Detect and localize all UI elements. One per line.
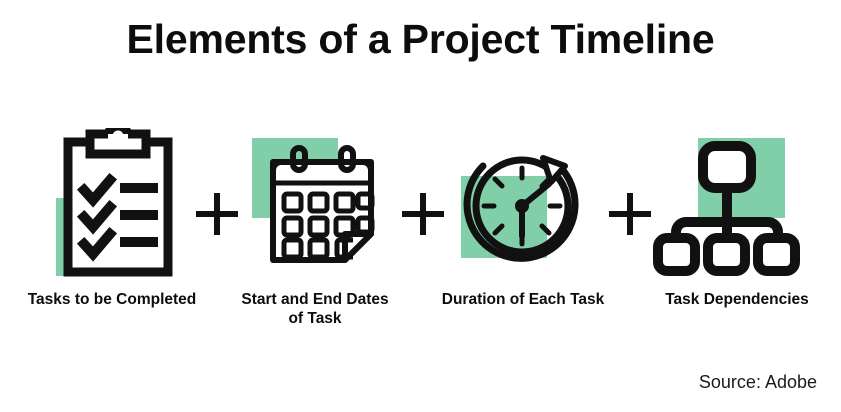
label-line: Start and End Dates: [205, 290, 425, 309]
label-line: Duration of Each Task: [413, 290, 633, 309]
label-tasks-to-be-completed: Tasks to be Completed: [2, 290, 222, 309]
source-attribution: Source: Adobe: [699, 372, 817, 393]
page-title: Elements of a Project Timeline: [0, 16, 841, 63]
element-duration-of-each-task: [443, 128, 613, 288]
hierarchy-icon: [650, 128, 820, 288]
clipboard-checklist-icon: [28, 128, 198, 288]
label-line: of Task: [205, 309, 425, 328]
label-duration-of-each-task: Duration of Each Task: [413, 290, 633, 309]
label-task-dependencies: Task Dependencies: [627, 290, 841, 309]
infographic-canvas: Elements of a Project Timeline: [0, 0, 841, 412]
labels-row: Tasks to be Completed Start and End Date…: [0, 290, 841, 338]
plus-separator-1: [196, 193, 238, 235]
clock-arrow-icon: [443, 128, 613, 288]
element-task-dependencies: [650, 128, 820, 288]
element-start-and-end-dates: [237, 128, 407, 288]
plus-separator-3: [609, 193, 651, 235]
label-start-and-end-dates: Start and End Dates of Task: [205, 290, 425, 328]
plus-separator-2: [402, 193, 444, 235]
label-line: Tasks to be Completed: [2, 290, 222, 309]
label-line: Task Dependencies: [627, 290, 841, 309]
calendar-icon: [237, 128, 407, 288]
element-tasks-to-be-completed: [28, 128, 198, 288]
